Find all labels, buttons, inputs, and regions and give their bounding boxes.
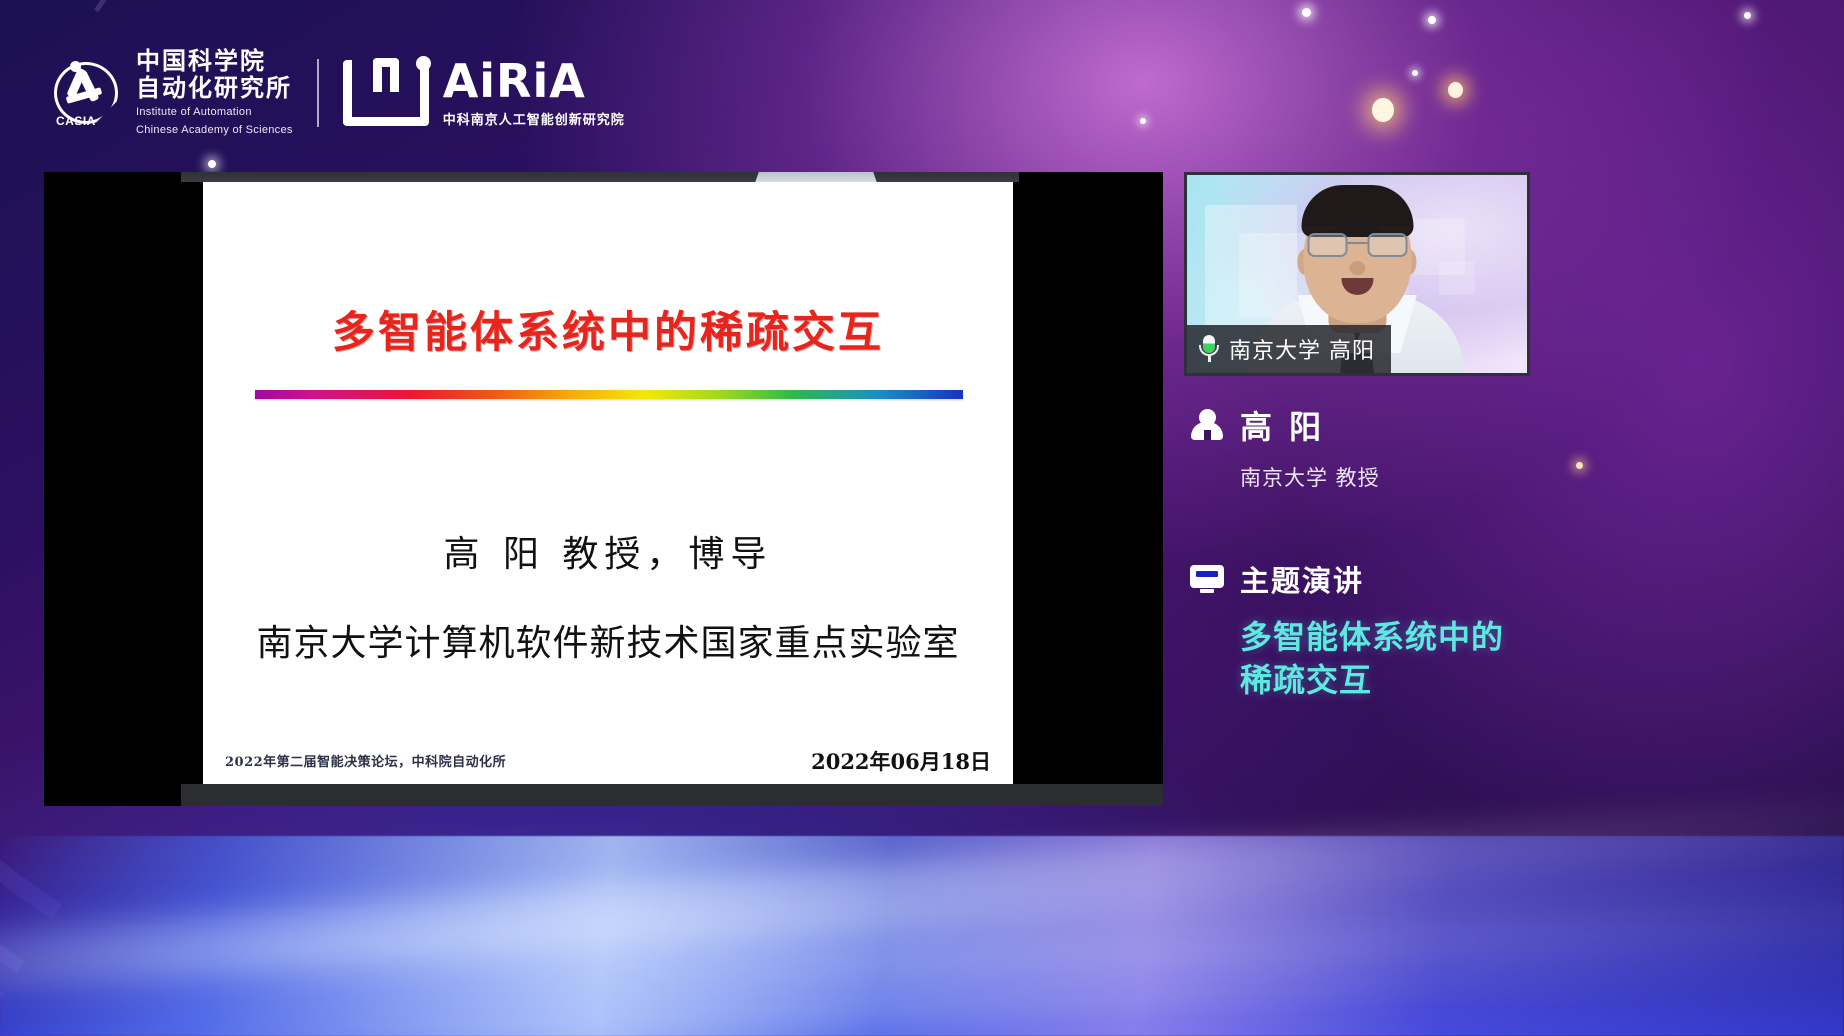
glow-orb: [1428, 16, 1436, 24]
speaker-name: 高 阳: [1240, 402, 1324, 448]
casia-en-line1: Institute of Automation: [136, 105, 293, 120]
slide-affiliation-line: 南京大学计算机软件新技术国家重点实验室: [203, 614, 1013, 666]
topic-section-label: 主题演讲: [1240, 558, 1364, 600]
video-name-badge: 南京大学 高阳: [1187, 325, 1391, 373]
slide-footer-left: 2022年第二届智能决策论坛，中科院自动化所: [225, 751, 506, 770]
airia-logo: AiRiA 中科南京人工智能创新研究院: [343, 58, 625, 128]
airia-brand: AiRiA: [443, 58, 625, 104]
glow-orb: [208, 160, 216, 168]
glow-orb: [1576, 462, 1583, 469]
glow-orb: [1302, 8, 1311, 17]
slide-footer-date: 2022年06月18日: [811, 746, 991, 776]
airia-logo-text: AiRiA 中科南京人工智能创新研究院: [443, 58, 625, 128]
glow-orb: [1372, 98, 1394, 122]
casia-logo: CASIA 中国科学院 自动化研究所 Institute of Automati…: [50, 48, 293, 137]
casia-en-line2: Chinese Academy of Sciences: [136, 123, 293, 138]
topic-title: 多智能体系统中的稀疏交互: [1240, 616, 1534, 702]
logo-divider: [317, 59, 319, 127]
microphone-icon: [1199, 335, 1219, 363]
person-icon: [1190, 408, 1224, 442]
topic-info-block: 主题演讲 多智能体系统中的稀疏交互: [1184, 558, 1534, 702]
shared-screen-region[interactable]: 多智能体系统中的稀疏交互 高 阳 教授，博导 南京大学计算机软件新技术国家重点实…: [44, 172, 1163, 806]
video-name-label: 南京大学 高阳: [1229, 333, 1375, 365]
bottom-light-band: [0, 836, 1844, 1036]
participant-video-tile[interactable]: 南京大学 高阳: [1184, 172, 1530, 376]
casia-cn-line1: 中国科学院: [136, 48, 293, 75]
glow-orb: [1448, 82, 1463, 98]
speaker-info-block: 高 阳 南京大学 教授: [1184, 402, 1534, 492]
glow-orb: [1140, 118, 1146, 124]
slide-presenter-line: 高 阳 教授，博导: [203, 525, 1013, 577]
casia-wordmark: CASIA: [56, 114, 96, 128]
airia-sub: 中科南京人工智能创新研究院: [443, 109, 625, 128]
glow-orb: [1744, 12, 1751, 19]
slide-title: 多智能体系统中的稀疏交互: [203, 298, 1013, 360]
casia-emblem-icon: CASIA: [50, 56, 124, 130]
airia-emblem-icon: [343, 60, 429, 126]
casia-cn-line2: 自动化研究所: [136, 75, 293, 102]
casia-logo-text: 中国科学院 自动化研究所 Institute of Automation Chi…: [136, 48, 293, 137]
speaker-affiliation: 南京大学 教授: [1240, 462, 1534, 492]
header-logos: CASIA 中国科学院 自动化研究所 Institute of Automati…: [50, 48, 625, 137]
slide-rainbow-divider: [255, 390, 963, 399]
glow-orb: [1412, 70, 1418, 76]
presentation-slide: 多智能体系统中的稀疏交互 高 阳 教授，博导 南京大学计算机软件新技术国家重点实…: [203, 182, 1013, 790]
shared-app-toolbar: [181, 172, 1019, 182]
participant-panel: 南京大学 高阳 高 阳 南京大学 教授 主题演讲 多智能体系统中的稀疏交互: [1184, 172, 1534, 702]
presentation-screen-icon: [1190, 565, 1224, 593]
shared-app-statusbar: [181, 784, 1163, 806]
